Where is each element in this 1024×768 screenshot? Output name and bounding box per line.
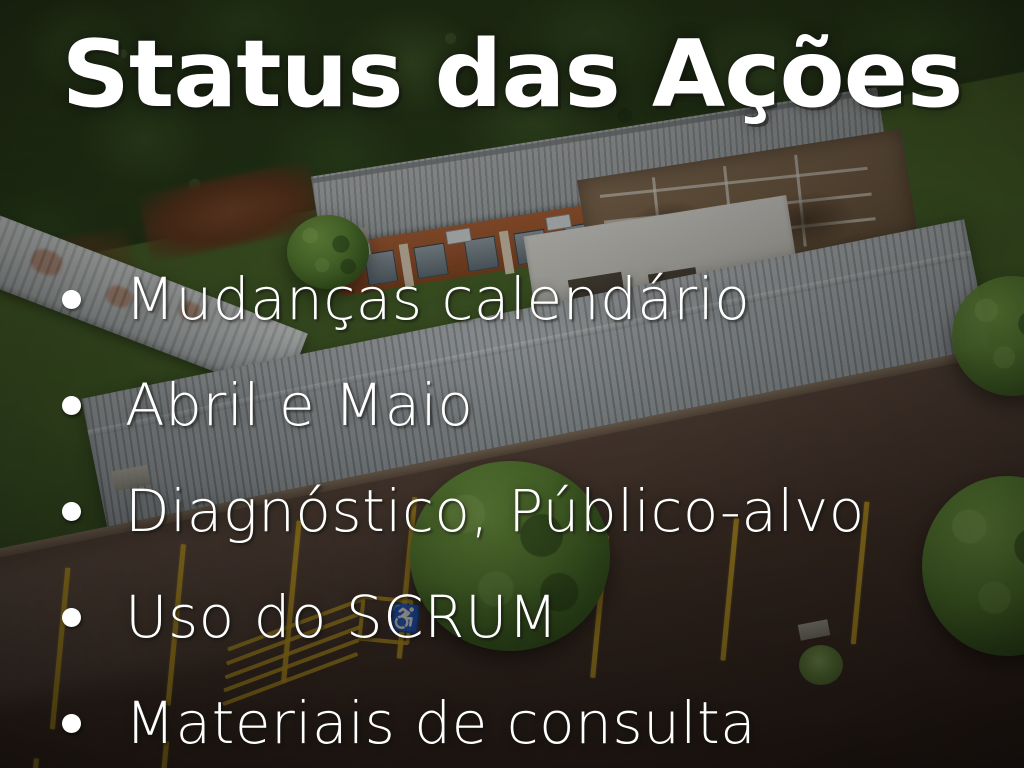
- bullet-dot-icon: [62, 290, 81, 309]
- list-item[interactable]: Mudanças calendário: [62, 246, 1004, 352]
- bullet-label: Diagnóstico, Público-alvo: [125, 482, 865, 540]
- bullet-label: Abril e Maio: [125, 376, 473, 434]
- bullet-dot-icon: [62, 502, 81, 521]
- bullet-label: Materiais de consulta: [125, 694, 756, 752]
- bullet-label: Uso do SCRUM: [125, 588, 558, 646]
- list-item[interactable]: Diagnóstico, Público-alvo: [62, 458, 1004, 564]
- list-item[interactable]: Abril e Maio: [62, 352, 1004, 458]
- slide-title: Status das Ações: [0, 26, 1024, 124]
- bullet-dot-icon: [62, 396, 81, 415]
- slide-content: Status das Ações Mudanças calendário Abr…: [0, 0, 1024, 768]
- presentation-slide: ♿ Status das Ações Mudanças calendário A…: [0, 0, 1024, 768]
- bullet-label: Mudanças calendário: [125, 270, 750, 328]
- bullet-dot-icon: [62, 608, 81, 627]
- list-item[interactable]: Uso do SCRUM: [62, 564, 1004, 670]
- bullet-list: Mudanças calendário Abril e Maio Diagnós…: [62, 246, 1004, 768]
- bullet-dot-icon: [62, 714, 81, 733]
- list-item[interactable]: Materiais de consulta: [62, 670, 1004, 768]
